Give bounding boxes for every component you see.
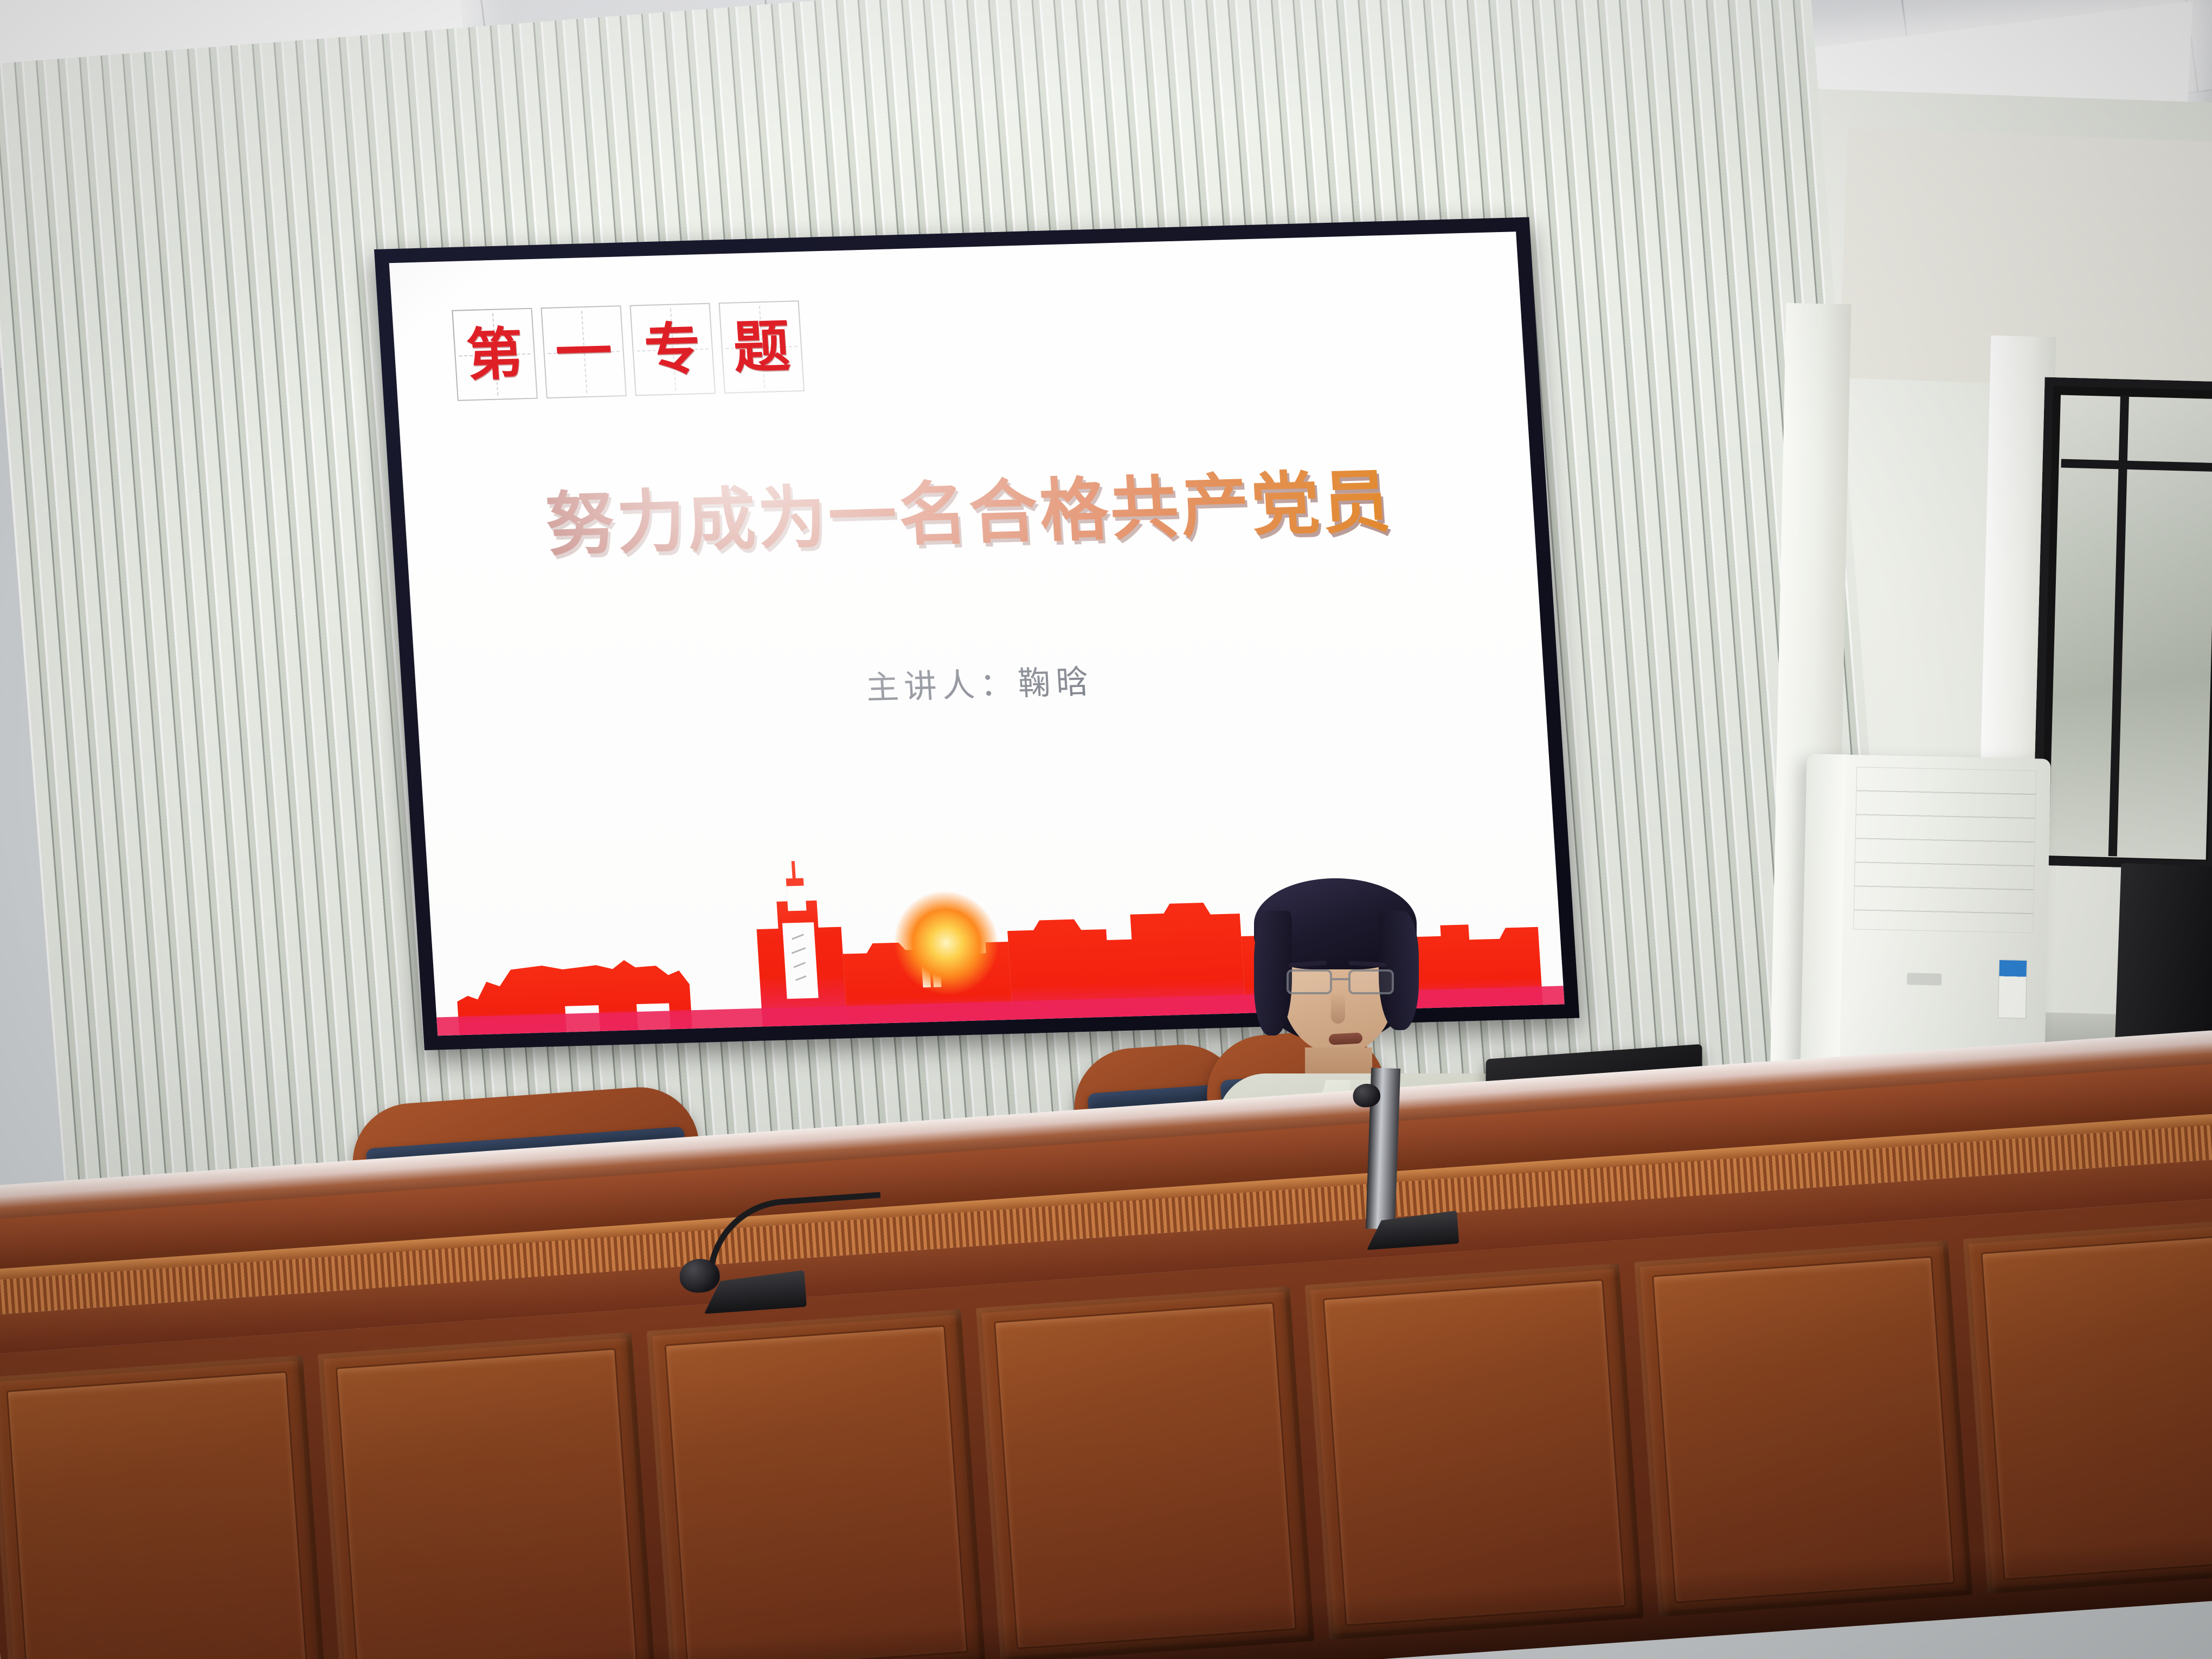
window-frame [2032,377,2212,870]
topic-badge-char-2: 一 [554,323,614,381]
topic-badge-char-3: 专 [642,320,703,378]
topic-badge-cell-2: 一 [541,305,627,398]
podium-panel [1963,1217,2212,1594]
topic-badge-cell-3: 专 [629,303,716,396]
topic-badge-char-4: 题 [731,318,792,376]
topic-badge-cell-1: 第 [452,308,538,401]
glasses-lens-right [1348,969,1394,994]
gooseneck-mic-left [695,1174,920,1314]
ac-energy-label [1998,960,2027,1019]
glasses-bridge [1332,978,1348,980]
nose [1331,992,1345,1024]
conference-room-photo: 第 一 专 题 努力成为一名合格共产党员 [0,0,2212,1659]
podium-panel [0,1355,327,1659]
gooseneck-mic-speaker [1355,1076,1561,1250]
topic-badge-cell-4: 题 [718,300,805,394]
podium-panel [318,1332,657,1659]
slide-presenter-label: 主讲人：鞠晗 [415,643,1545,722]
topic-badge-grid: 第 一 专 题 [452,300,805,401]
ac-grille [1853,767,2036,933]
topic-badge-char-1: 第 [465,325,525,383]
ac-brand-logo [1907,973,1941,985]
glasses-icon [1287,969,1394,995]
podium-panel [647,1309,986,1659]
mouth [1329,1032,1363,1045]
slide-title: 努力成为一名合格共产党员 [402,442,1535,573]
glasses-lens-left [1287,969,1332,994]
